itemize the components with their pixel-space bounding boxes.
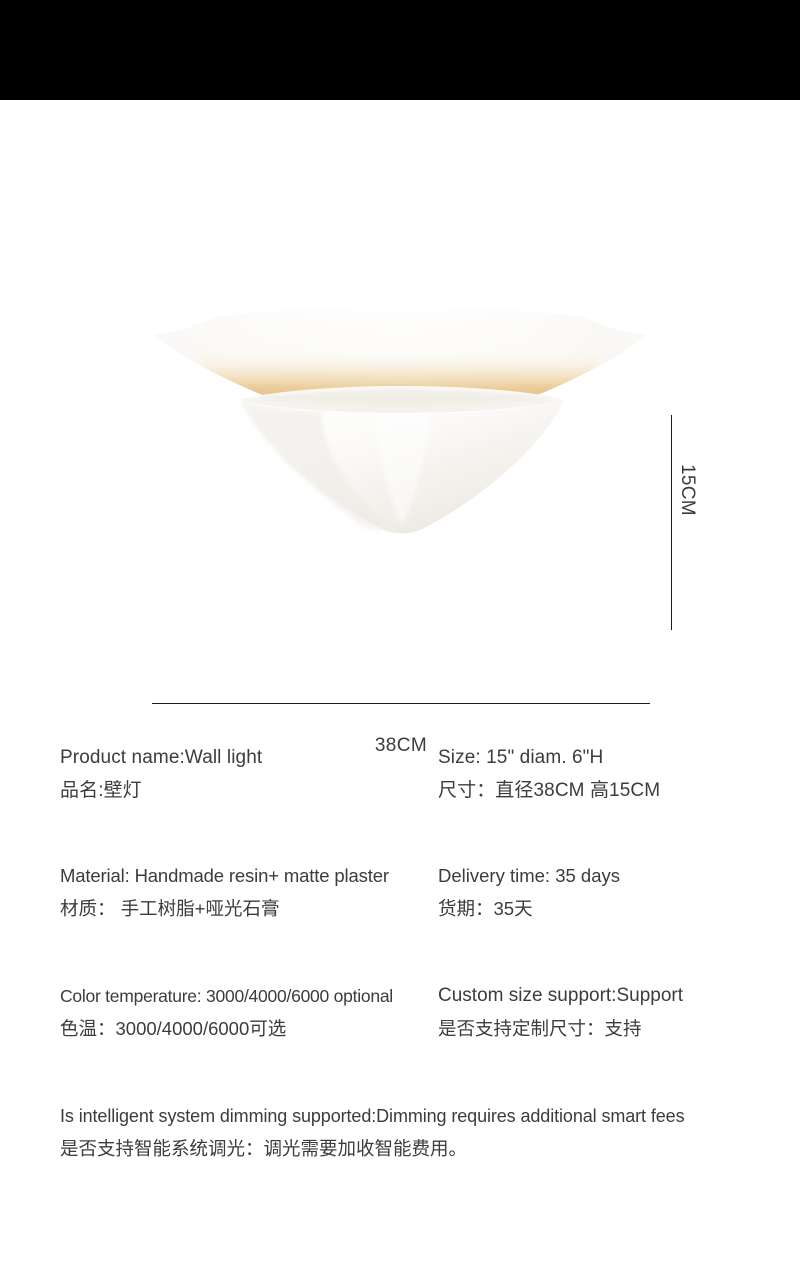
- wall-light-product-image: [140, 305, 660, 550]
- letterbox-bar-top: [0, 0, 800, 100]
- spec-cell-custom-size-support: Custom size support:Support 是否支持定制尺寸：支持: [438, 981, 683, 1047]
- spec-text-en: Custom size support:Support: [438, 981, 683, 1011]
- spec-text-en: Delivery time: 35 days: [438, 861, 620, 891]
- spec-text-zh: 货期：35天: [438, 891, 620, 927]
- dimension-line-horizontal: [152, 703, 650, 704]
- spec-text-zh: 品名:壁灯: [60, 773, 262, 809]
- spec-cell-product-name: Product name:Wall light 品名:壁灯: [60, 743, 262, 809]
- spec-cell-dimming-support: Is intelligent system dimming supported:…: [60, 1101, 684, 1167]
- spec-text-en: Color temperature: 3000/4000/6000 option…: [60, 981, 393, 1011]
- spec-text-en: Product name:Wall light: [60, 743, 262, 773]
- specification-list: Product name:Wall light 品名:壁灯 Size: 15" …: [0, 735, 800, 1183]
- spec-row-material: Material: Handmade resin+ matte plaster …: [0, 853, 800, 973]
- spec-cell-color-temperature: Color temperature: 3000/4000/6000 option…: [60, 981, 393, 1047]
- spec-text-zh: 材质： 手工树脂+哑光石膏: [60, 891, 389, 927]
- spec-text-zh: 是否支持智能系统调光：调光需要加收智能费用。: [60, 1131, 684, 1167]
- dimension-label-height: 15CM: [676, 464, 698, 554]
- spec-row-color-temperature: Color temperature: 3000/4000/6000 option…: [0, 973, 800, 1093]
- spec-text-en: Material: Handmade resin+ matte plaster: [60, 861, 389, 891]
- product-spec-page: 15CM 38CM Product name:Wall light 品名:壁灯 …: [0, 0, 800, 1273]
- spec-text-zh: 色温：3000/4000/6000可选: [60, 1011, 393, 1047]
- product-photo-stage: 15CM 38CM: [0, 100, 800, 690]
- spec-text-en: Is intelligent system dimming supported:…: [60, 1101, 684, 1131]
- spec-text-zh: 是否支持定制尺寸：支持: [438, 1011, 683, 1047]
- spec-text-zh: 尺寸：直径38CM 高15CM: [438, 773, 660, 809]
- spec-cell-material: Material: Handmade resin+ matte plaster …: [60, 861, 389, 927]
- dimension-line-vertical: [671, 415, 672, 630]
- spec-text-en: Size: 15" diam. 6"H: [438, 743, 660, 773]
- spec-cell-size: Size: 15" diam. 6"H 尺寸：直径38CM 高15CM: [438, 743, 660, 809]
- spec-row-dimming-support: Is intelligent system dimming supported:…: [0, 1093, 800, 1183]
- spec-row-product-name: Product name:Wall light 品名:壁灯 Size: 15" …: [0, 735, 800, 853]
- spec-cell-delivery-time: Delivery time: 35 days 货期：35天: [438, 861, 620, 927]
